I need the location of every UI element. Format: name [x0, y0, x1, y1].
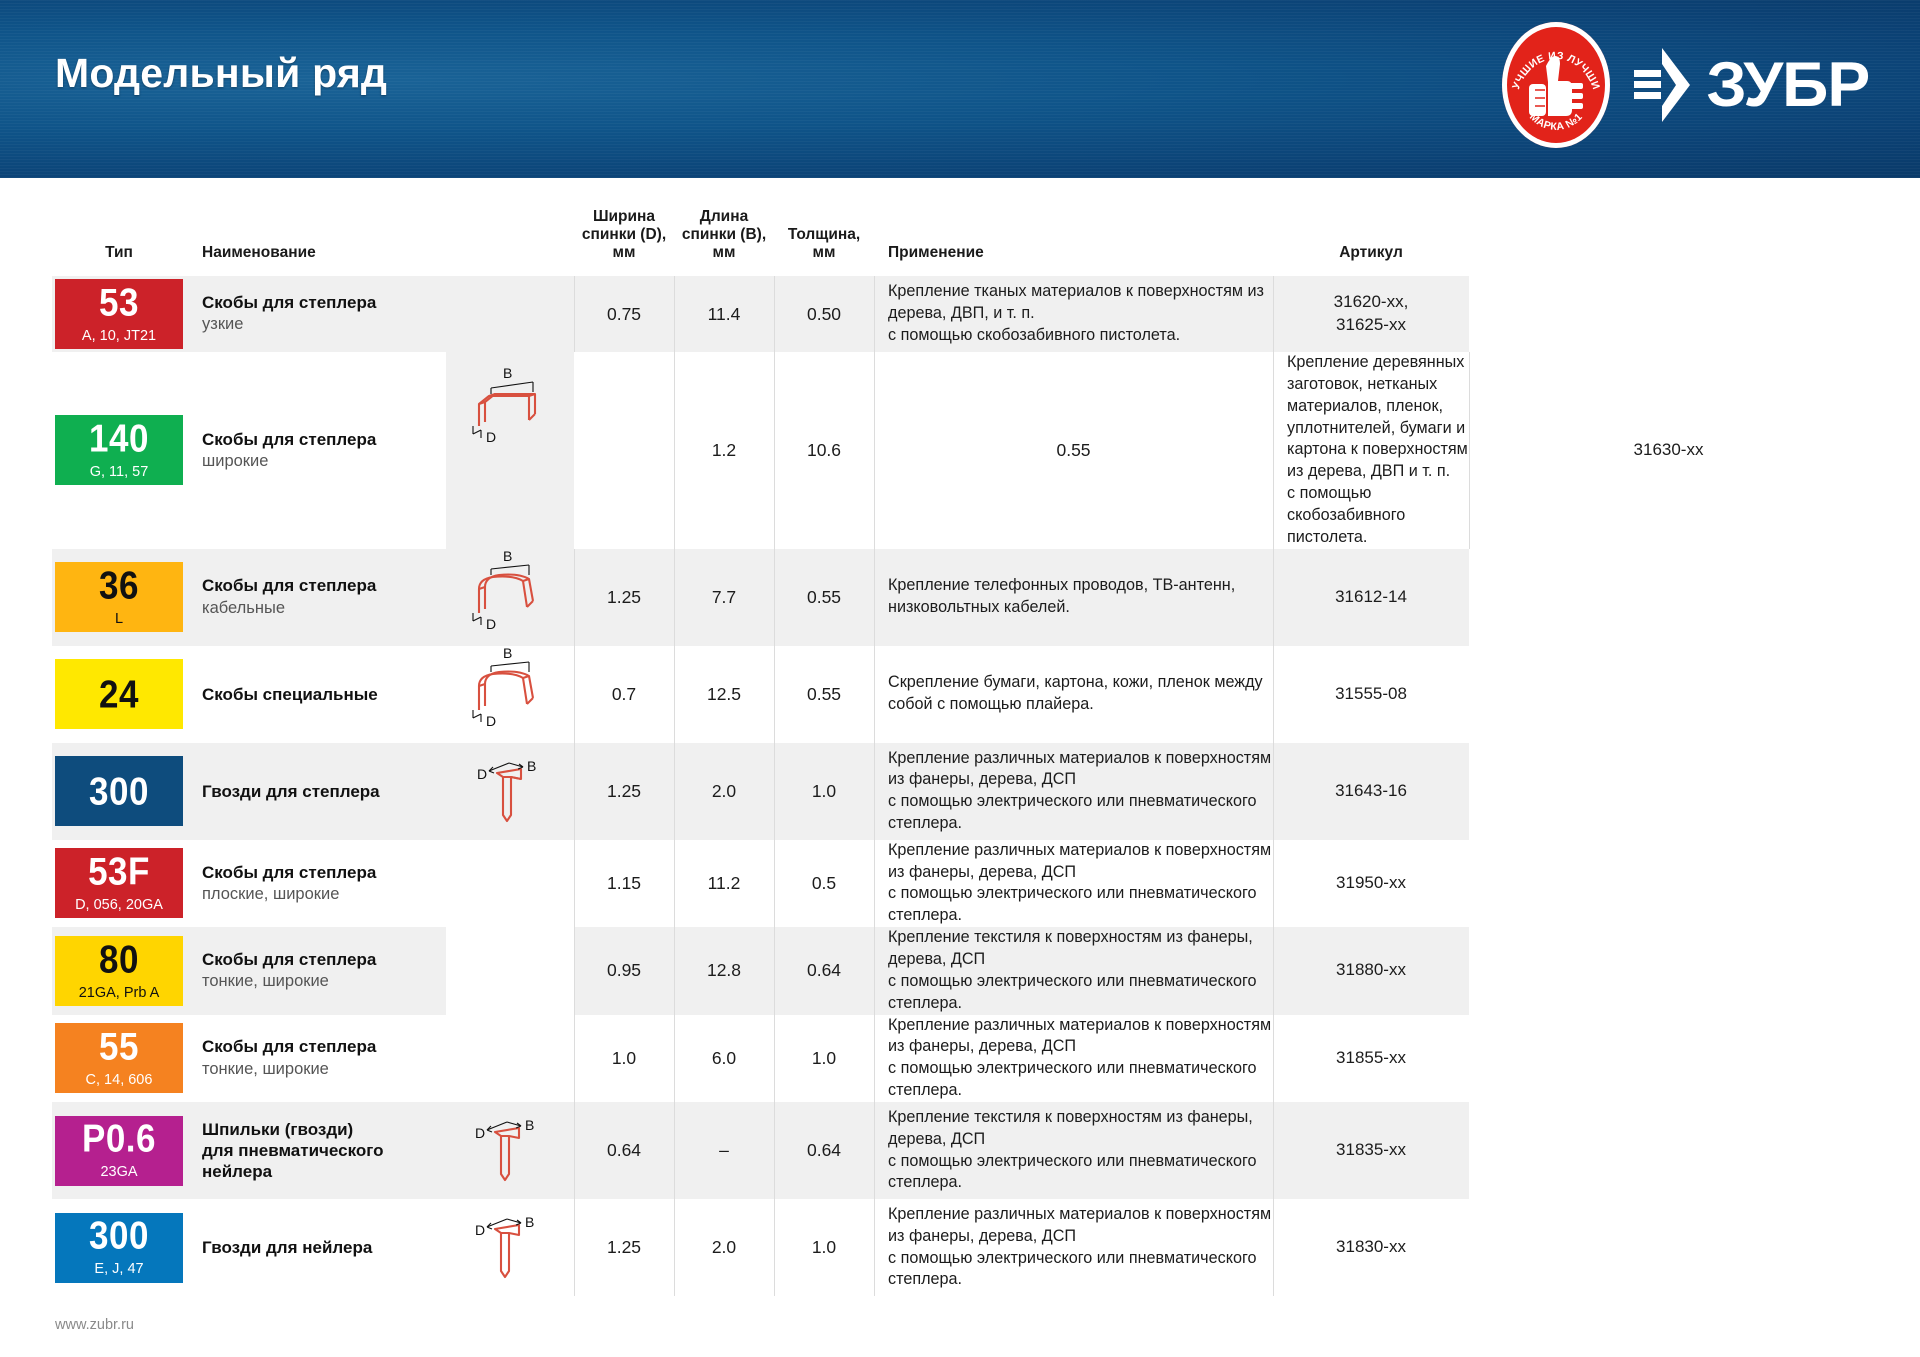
type-badge-alias: D, 056, 20GA — [75, 898, 163, 913]
row-application: Крепление тканых материалов к поверхност… — [874, 276, 1273, 352]
table-body: 53 A, 10, JT21 Скобы для степлера узкие … — [52, 276, 1868, 1296]
row-application: Скрепление бумаги, картона, кожи, пленок… — [874, 646, 1273, 743]
type-badge: 55 C, 14, 606 — [55, 1023, 183, 1093]
row-diagram: D B — [446, 1102, 574, 1199]
col-header-type: Тип — [52, 178, 186, 276]
row-width: 0.95 — [574, 927, 674, 1014]
model-range-table: Тип Наименование Ширина спинки (D), мм Д… — [52, 178, 1868, 1296]
row-length: 7.7 — [674, 549, 774, 646]
row-length: – — [674, 1102, 774, 1199]
row-application: Крепление текстиля к поверхностям из фан… — [874, 1102, 1273, 1199]
row-diagram: B D — [446, 276, 574, 549]
table-row[interactable]: 300 E, J, 47 Гвозди для нейлера D B 1.25… — [52, 1199, 1868, 1296]
pin-diagram-icon: D B — [451, 1199, 569, 1291]
type-badge: 140 G, 11, 57 — [55, 415, 183, 485]
col-header-thickness-line1: Толщина, — [788, 226, 860, 243]
svg-text:D: D — [477, 766, 487, 782]
type-badge: 53 A, 10, JT21 — [55, 279, 183, 349]
row-article: 31620-xx,31625-xx — [1273, 276, 1469, 352]
text-line: Крепление различных материалов к поверхн… — [888, 841, 1271, 881]
row-thickness: 0.55 — [774, 646, 874, 743]
svg-text:D: D — [475, 1222, 485, 1238]
text-line: Крепление деревянных заготовок, нетканых… — [1287, 353, 1464, 415]
text-line: Скрепление бумаги, картона, кожи, пленок… — [888, 673, 1263, 713]
col-header-width-line2: спинки (D), мм — [580, 226, 668, 262]
type-badge: 24 — [55, 659, 183, 729]
row-application: Крепление различных материалов к поверхн… — [874, 1199, 1273, 1296]
row-article: 31880-xx — [1273, 927, 1469, 1014]
row-width: 1.2 — [674, 352, 774, 549]
text-line: Скобы для степлера — [202, 576, 376, 595]
type-badge-alias: 21GA, Prb A — [79, 986, 160, 1001]
row-name: Гвозди для степлера — [186, 743, 446, 840]
text-line: нейлера — [202, 1162, 272, 1181]
col-header-thickness-line2: мм — [780, 244, 868, 262]
product-name: Скобы для степлера — [202, 862, 446, 883]
product-name-sub: тонкие, широкие — [202, 1059, 446, 1080]
row-type-badge[interactable]: 80 21GA, Prb A — [52, 927, 186, 1014]
row-length: 2.0 — [674, 1199, 774, 1296]
table-row[interactable]: 53 A, 10, JT21 Скобы для степлера узкие … — [52, 276, 1868, 352]
staple-diagram-icon: B D — [451, 364, 569, 456]
row-width: 1.25 — [574, 549, 674, 646]
footer-url[interactable]: www.zubr.ru — [55, 1317, 134, 1333]
row-diagram: D B — [446, 1199, 574, 1296]
text-line: Крепление различных материалов к поверхн… — [888, 1016, 1271, 1056]
col-header-diagram — [446, 178, 574, 276]
row-width: 0.75 — [574, 276, 674, 352]
table-row[interactable]: 36 L Скобы для степлера кабельные B D 1.… — [52, 549, 1868, 646]
row-type-badge[interactable]: 140 G, 11, 57 — [52, 352, 186, 549]
text-line: 31620-xx, — [1334, 292, 1409, 311]
row-type-badge[interactable]: 300 E, J, 47 — [52, 1199, 186, 1296]
row-name: Гвозди для нейлера — [186, 1199, 446, 1296]
type-badge-code: 53 — [99, 283, 139, 322]
text-line: с помощью электрического или пневматичес… — [888, 884, 1257, 924]
text-line: Крепление текстиля к поверхностям из фан… — [888, 928, 1253, 968]
col-header-width: Ширина спинки (D), мм — [574, 178, 674, 276]
type-badge: 300 E, J, 47 — [55, 1213, 183, 1283]
text-line: с помощью скобозабивного пистолета. — [1287, 484, 1405, 546]
svg-text:D: D — [486, 429, 496, 445]
table-row[interactable]: 80 21GA, Prb A Скобы для степлера тонкие… — [52, 927, 1868, 1014]
page-root: Модельный ряд ЛУЧШИЕ ИЗ ЛУЧШИХ МАРКА №1 — [0, 0, 1920, 1357]
row-width: 0.7 — [574, 646, 674, 743]
row-type-badge[interactable]: P0.6 23GA — [52, 1102, 186, 1199]
table-row[interactable]: P0.6 23GA Шпильки (гвозди)для пневматиче… — [52, 1102, 1868, 1199]
row-name: Скобы специальные — [186, 646, 446, 743]
text-line: уплотнителей, бумаги и картона к поверхн… — [1287, 419, 1468, 481]
row-name: Скобы для степлера тонкие, широкие — [186, 927, 446, 1014]
product-name-sub: широкие — [202, 451, 446, 472]
svg-text:B: B — [527, 758, 536, 774]
product-name-sub: узкие — [202, 314, 446, 335]
brand-logo: ЛУЧШИЕ ИЗ ЛУЧШИХ МАРКА №1 — [1502, 22, 1868, 148]
row-thickness: 0.55 — [774, 549, 874, 646]
product-name: Гвозди для степлера — [202, 781, 446, 802]
row-type-badge[interactable]: 55 C, 14, 606 — [52, 1015, 186, 1102]
text-line: Гвозди для степлера — [202, 782, 380, 801]
text-line: 31555-08 — [1335, 684, 1407, 703]
row-application: Крепление деревянных заготовок, нетканых… — [1273, 352, 1469, 549]
text-line: 31950-xx — [1336, 873, 1406, 892]
row-length: 6.0 — [674, 1015, 774, 1102]
row-article: 31950-xx — [1273, 840, 1469, 927]
col-header-length-line1: Длина — [700, 208, 748, 225]
row-type-badge[interactable]: 36 L — [52, 549, 186, 646]
table-row[interactable]: 53F D, 056, 20GA Скобы для степлера плос… — [52, 840, 1868, 927]
row-application: Крепление телефонных проводов, ТВ-антенн… — [874, 549, 1273, 646]
row-type-badge[interactable]: 300 — [52, 743, 186, 840]
text-line: Крепление тканых материалов к поверхност… — [888, 282, 1264, 322]
product-name: Гвозди для нейлера — [202, 1237, 446, 1258]
type-badge-alias: G, 11, 57 — [90, 465, 149, 480]
zubr-arrow-icon — [1632, 46, 1692, 124]
cable-staple-diagram-icon: B D — [451, 549, 569, 641]
type-badge-code: 36 — [99, 566, 139, 605]
col-header-name: Наименование — [186, 178, 446, 276]
row-diagram: B D — [446, 549, 574, 646]
row-diagram — [574, 352, 674, 549]
text-line: 31855-xx — [1336, 1048, 1406, 1067]
zubr-wordmark: ЗУБР — [1632, 46, 1868, 124]
row-application: Крепление текстиля к поверхностям из фан… — [874, 927, 1273, 1014]
text-line: 31643-16 — [1335, 781, 1407, 800]
row-application: Крепление различных материалов к поверхн… — [874, 840, 1273, 927]
product-name: Скобы для степлера — [202, 949, 446, 970]
quality-badge-icon: ЛУЧШИЕ ИЗ ЛУЧШИХ МАРКА №1 — [1502, 22, 1610, 148]
product-name: Скобы для степлера — [202, 1036, 446, 1057]
product-name: Скобы специальные — [202, 684, 446, 705]
type-badge-code: 300 — [89, 1216, 149, 1255]
row-application: Крепление различных материалов к поверхн… — [874, 743, 1273, 840]
text-line: 31625-xx — [1336, 315, 1406, 334]
type-badge-code: 140 — [89, 419, 149, 458]
svg-text:D: D — [486, 713, 496, 729]
svg-text:D: D — [475, 1125, 485, 1141]
text-line: Крепление различных материалов к поверхн… — [888, 1205, 1271, 1245]
svg-text:B: B — [503, 549, 512, 564]
table-row[interactable]: 300 Гвозди для степлера D B 1.25 2.0 1.0… — [52, 743, 1868, 840]
row-length: 12.8 — [674, 927, 774, 1014]
svg-text:B: B — [525, 1214, 534, 1230]
brand-name: ЗУБР — [1707, 54, 1870, 117]
col-header-article: Артикул — [1273, 178, 1469, 276]
row-thickness: 1.0 — [774, 743, 874, 840]
text-line: с помощью электрического или пневматичес… — [888, 1249, 1257, 1289]
row-article: 31612-14 — [1273, 549, 1469, 646]
row-length: 11.4 — [674, 276, 774, 352]
product-name-sub: кабельные — [202, 598, 446, 619]
table-head: Тип Наименование Ширина спинки (D), мм Д… — [52, 178, 1868, 276]
col-header-thickness: Толщина, мм — [774, 178, 874, 276]
table-row[interactable]: 55 C, 14, 606 Скобы для степлера тонкие,… — [52, 1015, 1868, 1102]
text-line: Крепление текстиля к поверхностям из фан… — [888, 1108, 1253, 1148]
row-thickness: 0.5 — [774, 840, 874, 927]
type-badge: P0.6 23GA — [55, 1116, 183, 1186]
text-line: Крепление телефонных проводов, ТВ-антенн… — [888, 576, 1235, 616]
type-badge-code: 53F — [88, 852, 150, 891]
type-badge: 300 — [55, 756, 183, 826]
type-badge-code: 24 — [99, 675, 139, 714]
text-line: Скобы для степлера — [202, 950, 376, 969]
col-header-width-line1: Ширина — [593, 208, 655, 225]
row-thickness: 1.0 — [774, 1015, 874, 1102]
text-line: 31630-xx — [1634, 440, 1704, 459]
row-article: 31835-xx — [1273, 1102, 1469, 1199]
page-title: Модельный ряд — [55, 50, 387, 97]
text-line: с помощью электрического или пневматичес… — [888, 972, 1257, 1012]
type-badge: 80 21GA, Prb A — [55, 936, 183, 1006]
row-width: 1.25 — [574, 743, 674, 840]
type-badge-code: 80 — [99, 940, 139, 979]
text-line: 31880-xx — [1336, 960, 1406, 979]
row-length: 12.5 — [674, 646, 774, 743]
row-type-badge[interactable]: 53F D, 056, 20GA — [52, 840, 186, 927]
row-article: 31630-xx — [1469, 352, 1868, 549]
type-badge-alias: L — [115, 612, 123, 627]
type-badge-code: 55 — [99, 1027, 139, 1066]
type-badge-code: P0.6 — [82, 1119, 156, 1158]
text-line: Скобы для степлера — [202, 1037, 376, 1056]
row-length: 2.0 — [674, 743, 774, 840]
text-line: Скобы для степлера — [202, 430, 376, 449]
svg-text:B: B — [525, 1117, 534, 1133]
text-line: Скобы специальные — [202, 685, 378, 704]
row-thickness: 0.50 — [774, 276, 874, 352]
type-badge: 53F D, 056, 20GA — [55, 848, 183, 918]
product-name: Скобы для степлера — [202, 292, 446, 313]
cable-staple-diagram-icon: B D — [451, 646, 569, 738]
text-line: с помощью электрического или пневматичес… — [888, 1152, 1257, 1192]
row-article: 31830-xx — [1273, 1199, 1469, 1296]
col-header-length-line2: спинки (B), мм — [680, 226, 768, 262]
product-name: Скобы для степлера — [202, 429, 446, 450]
model-table-wrap: Тип Наименование Ширина спинки (D), мм Д… — [0, 178, 1920, 1296]
col-header-length: Длина спинки (B), мм — [674, 178, 774, 276]
svg-text:B: B — [503, 365, 512, 381]
row-application: Крепление различных материалов к поверхн… — [874, 1015, 1273, 1102]
page-header: Модельный ряд ЛУЧШИЕ ИЗ ЛУЧШИХ МАРКА №1 — [0, 0, 1920, 178]
row-width: 0.64 — [574, 1102, 674, 1199]
row-name: Шпильки (гвозди)для пневматическогонейле… — [186, 1102, 446, 1199]
row-width: 1.15 — [574, 840, 674, 927]
row-name: Скобы для степлера широкие — [186, 352, 446, 549]
nail-diagram-icon: D B — [451, 743, 569, 835]
text-line: 31835-xx — [1336, 1140, 1406, 1159]
svg-text:B: B — [503, 646, 512, 661]
text-line: с помощью электрического или пневматичес… — [888, 1059, 1257, 1099]
row-name: Скобы для степлера кабельные — [186, 549, 446, 646]
type-badge-code: 300 — [89, 772, 149, 811]
type-badge-alias: A, 10, JT21 — [82, 329, 156, 344]
text-line: Крепление различных материалов к поверхн… — [888, 749, 1271, 789]
row-article: 31555-08 — [1273, 646, 1469, 743]
type-badge: 36 L — [55, 562, 183, 632]
svg-text:D: D — [486, 616, 496, 632]
text-line: Скобы для степлера — [202, 293, 376, 312]
row-article: 31855-xx — [1273, 1015, 1469, 1102]
row-thickness: 0.55 — [874, 352, 1273, 549]
row-type-badge[interactable]: 24 — [52, 646, 186, 743]
row-length: 11.2 — [674, 840, 774, 927]
pin-diagram-icon: D B — [451, 1102, 569, 1194]
row-diagram — [446, 840, 574, 1102]
row-thickness: 0.64 — [774, 927, 874, 1014]
product-name: Скобы для степлера — [202, 575, 446, 596]
row-diagram: D B — [446, 743, 574, 840]
product-name: Шпильки (гвозди)для пневматическогонейле… — [202, 1119, 446, 1183]
text-line: с помощью электрического или пневматичес… — [888, 792, 1257, 832]
col-header-application: Применение — [874, 178, 1273, 276]
table-row[interactable]: 24 Скобы специальные B D 0.7 12.5 0.55 С… — [52, 646, 1868, 743]
text-line: 31830-xx — [1336, 1237, 1406, 1256]
row-name: Скобы для степлера плоские, широкие — [186, 840, 446, 927]
row-type-badge[interactable]: 53 A, 10, JT21 — [52, 276, 186, 352]
row-width: 1.0 — [574, 1015, 674, 1102]
row-thickness: 0.64 — [774, 1102, 874, 1199]
row-thickness: 1.0 — [774, 1199, 874, 1296]
row-width: 1.25 — [574, 1199, 674, 1296]
text-line: с помощью скобозабивного пистолета. — [888, 326, 1180, 344]
text-line: Гвозди для нейлера — [202, 1238, 372, 1257]
table-row[interactable]: 140 G, 11, 57 Скобы для степлера широкие… — [52, 352, 1868, 549]
type-badge-alias: 23GA — [100, 1165, 137, 1180]
row-length: 10.6 — [774, 352, 874, 549]
row-name: Скобы для степлера тонкие, широкие — [186, 1015, 446, 1102]
product-name-sub: тонкие, широкие — [202, 971, 446, 992]
text-line: 31612-14 — [1335, 587, 1407, 606]
row-article: 31643-16 — [1273, 743, 1469, 840]
type-badge-alias: C, 14, 606 — [86, 1073, 153, 1088]
row-diagram: B D — [446, 646, 574, 743]
text-line: Скобы для степлера — [202, 863, 376, 882]
text-line: Шпильки (гвозди) — [202, 1120, 353, 1139]
product-name-sub: плоские, широкие — [202, 884, 446, 905]
text-line: для пневматического — [202, 1141, 384, 1160]
row-name: Скобы для степлера узкие — [186, 276, 446, 352]
type-badge-alias: E, J, 47 — [94, 1262, 143, 1277]
